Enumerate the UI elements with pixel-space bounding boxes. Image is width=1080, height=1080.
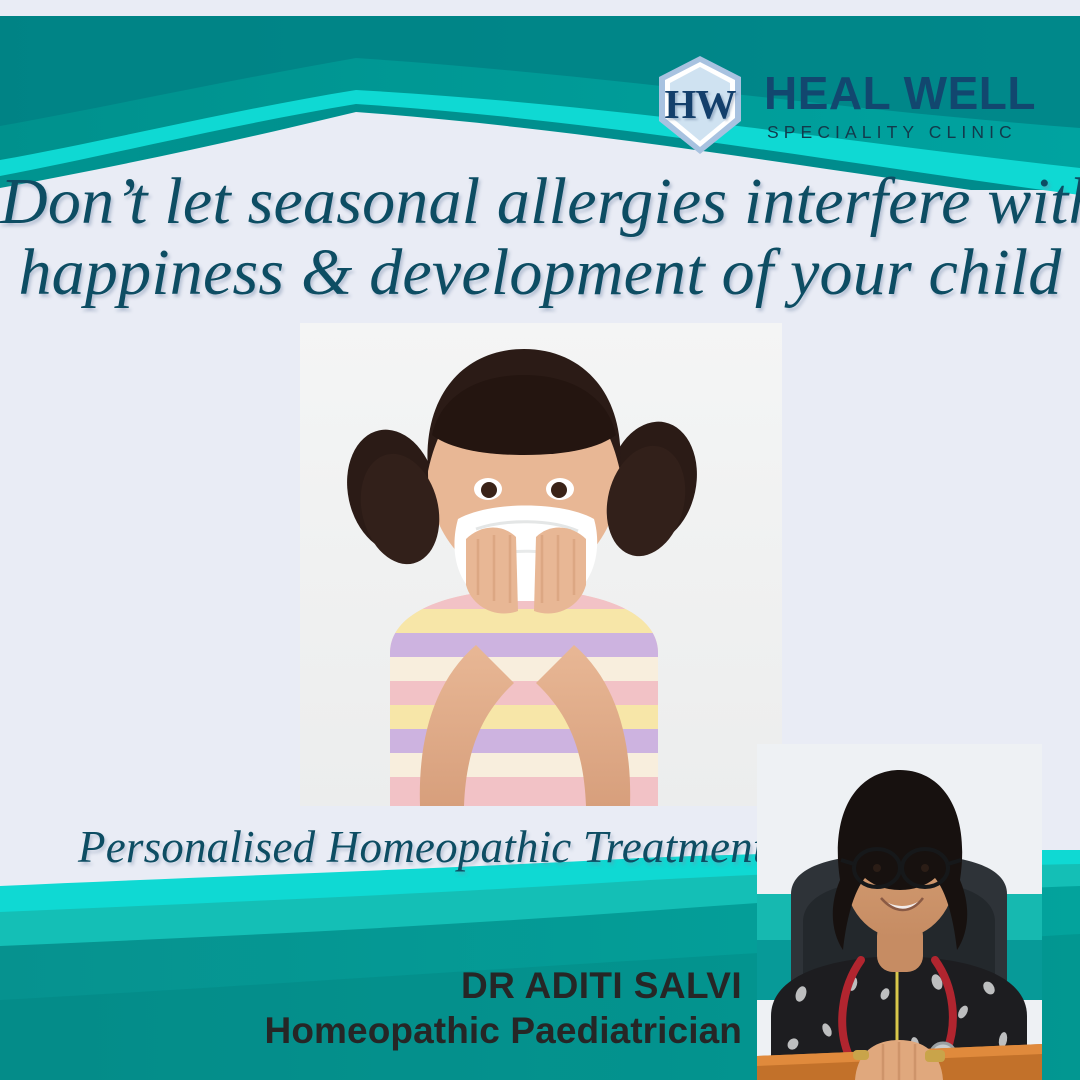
header-top-strip <box>0 0 1080 16</box>
child-eye-left <box>481 482 497 498</box>
poster-canvas: HW HEAL WELL SPECIALITY CLINIC Don’t let… <box>0 0 1080 1080</box>
child-photo-illustration <box>300 323 782 806</box>
doctor-name-block: DR ADITI SALVI Homeopathic Paediatrician <box>0 966 742 1050</box>
treatment-tagline: Personalised Homeopathic Treatment <box>78 824 838 871</box>
shield-monogram-text: HW <box>652 53 748 157</box>
doctor-photo-illustration <box>757 744 1042 1080</box>
doctor-name: DR ADITI SALVI <box>0 966 742 1005</box>
logo-brand-name: HEAL WELL <box>764 70 1036 116</box>
shield-badge-icon: HW <box>652 53 748 157</box>
child-photo <box>300 323 782 806</box>
brand-logo: HW HEAL WELL SPECIALITY CLINIC <box>652 52 1052 158</box>
headline-line-1: Don’t let seasonal allergies interfere w… <box>0 168 1080 235</box>
logo-brand-tagline: SPECIALITY CLINIC <box>764 124 1036 142</box>
logo-text-group: HEAL WELL SPECIALITY CLINIC <box>764 68 1036 142</box>
doctor-title: Homeopathic Paediatrician <box>0 1011 742 1050</box>
doctor-watch <box>925 1050 945 1062</box>
doctor-photo <box>757 744 1042 1080</box>
doctor-bracelet <box>853 1050 869 1060</box>
headline-line-2: happiness & development of your child <box>0 239 1080 306</box>
headline: Don’t let seasonal allergies interfere w… <box>0 168 1080 307</box>
child-eye-right <box>551 482 567 498</box>
